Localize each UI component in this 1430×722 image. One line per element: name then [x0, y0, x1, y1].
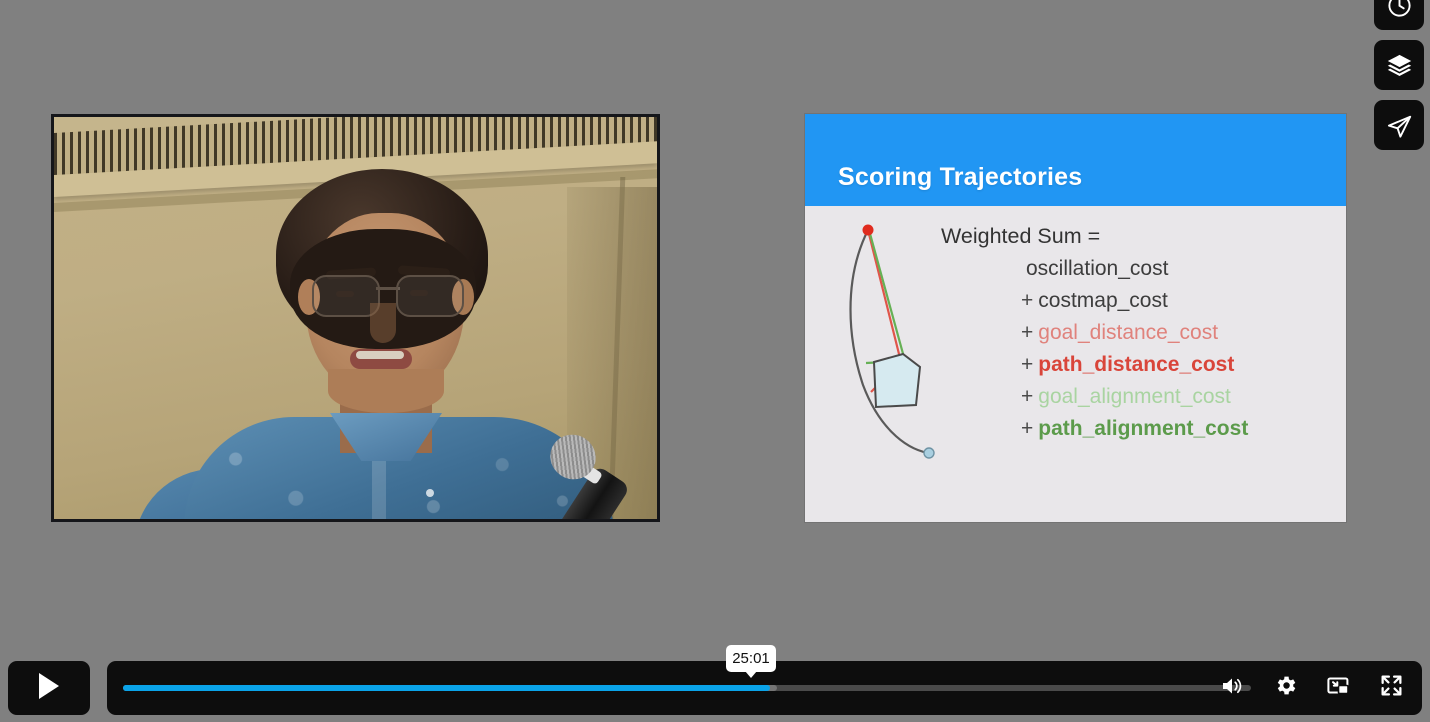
term-operator-1: +: [1021, 289, 1033, 312]
start-point: [924, 448, 934, 458]
fullscreen-icon: [1379, 673, 1404, 703]
term-operator-3: +: [1021, 353, 1033, 376]
send-icon: [1386, 112, 1413, 139]
volume-icon: [1219, 674, 1245, 703]
goal-point: [863, 225, 874, 236]
settings-button[interactable]: [1271, 674, 1299, 702]
term-operator-2: +: [1021, 321, 1033, 344]
robot-path-curve: [851, 230, 929, 453]
person-nose: [370, 303, 396, 343]
weighted-sum-equation: Weighted Sum = oscillation_cost +costmap…: [941, 220, 1248, 445]
person-shirt-button: [426, 489, 434, 497]
trajectory-diagram: [823, 210, 948, 475]
glasses-lens-right: [396, 275, 464, 317]
term-label-0: oscillation_cost: [1026, 257, 1168, 280]
term-row-1: +costmap_cost: [941, 285, 1248, 317]
slide-header: Scoring Trajectories: [805, 114, 1346, 206]
settings-gear-icon: [1273, 673, 1298, 703]
slide-body: Weighted Sum = oscillation_cost +costmap…: [805, 206, 1346, 522]
term-label-4: goal_alignment_cost: [1038, 385, 1231, 408]
play-button[interactable]: [8, 661, 90, 715]
robot-footprint: [874, 354, 920, 407]
term-operator-4: +: [1021, 385, 1033, 408]
play-icon: [36, 671, 62, 706]
term-label-2: goal_distance_cost: [1038, 321, 1218, 344]
layers-button[interactable]: [1374, 40, 1424, 90]
term-row-2: +goal_distance_cost: [941, 317, 1248, 349]
time-tooltip: 25:01: [726, 645, 776, 672]
volume-button[interactable]: [1218, 674, 1246, 702]
term-row-3: +path_distance_cost: [941, 349, 1248, 381]
picture-in-picture-button[interactable]: [1324, 674, 1352, 702]
progress-bar[interactable]: [123, 685, 1251, 691]
term-row-0: oscillation_cost: [941, 253, 1248, 285]
equation-heading: Weighted Sum =: [941, 220, 1248, 252]
video-pane[interactable]: [51, 114, 660, 522]
picture-in-picture-icon: [1325, 674, 1351, 703]
progress-played: [123, 685, 770, 691]
clock-icon: [1386, 0, 1413, 19]
person-chin: [328, 369, 444, 413]
fullscreen-button[interactable]: [1377, 674, 1405, 702]
slide-title: Scoring Trajectories: [838, 163, 1082, 192]
term-row-5: +path_alignment_cost: [941, 413, 1248, 445]
term-label-1: costmap_cost: [1038, 289, 1168, 312]
term-row-4: +goal_alignment_cost: [941, 381, 1248, 413]
term-label-3: path_distance_cost: [1038, 353, 1234, 376]
player-right-controls: [1218, 661, 1412, 715]
send-button[interactable]: [1374, 100, 1424, 150]
video-player-stage: Scoring Trajectories Weighted Sum = osci…: [0, 0, 1430, 722]
side-toolbar: [1374, 0, 1424, 150]
layers-icon: [1386, 52, 1413, 79]
history-button[interactable]: [1374, 0, 1424, 30]
term-label-5: path_alignment_cost: [1038, 417, 1248, 440]
person-teeth: [356, 351, 404, 359]
video-image: [54, 117, 657, 519]
term-operator-5: +: [1021, 417, 1033, 440]
slide-pane[interactable]: Scoring Trajectories Weighted Sum = osci…: [805, 114, 1346, 522]
